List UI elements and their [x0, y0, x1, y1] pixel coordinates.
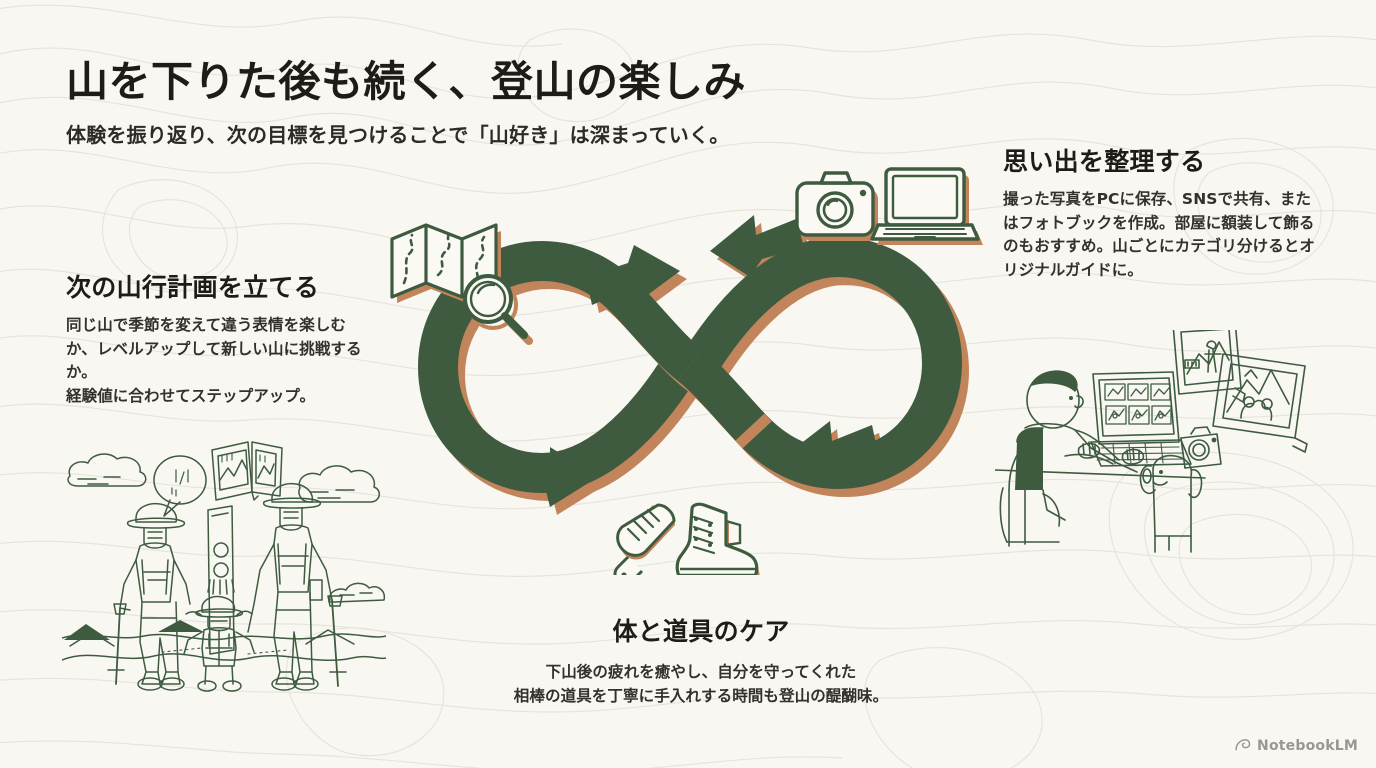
page-title: 山を下りた後も続く、登山の楽しみ: [66, 58, 926, 105]
family-hiking-illustration: [62, 432, 386, 694]
slide-root: 山を下りた後も続く、登山の楽しみ 体験を振り返り、次の目標を見つけることで「山好…: [0, 0, 1376, 768]
photo-organizing-illustration: [995, 330, 1335, 560]
block-bottom-heading: 体と道具のケア: [460, 612, 942, 648]
notebooklm-spiral-icon: [1234, 737, 1251, 754]
arrow-upper-right: [710, 215, 804, 277]
page-subtitle: 体験を振り返り、次の目標を見つけることで「山好き」は深まっていく。: [66, 119, 926, 148]
block-left-body: 同じ山で季節を変えて違う表情を楽しむか、レベルアップして新しい山に挑戦するか。 …: [66, 314, 371, 408]
brush-icon: [615, 505, 675, 575]
block-organize-memories: 思い出を整理する 撮った写真をPCに保存、SNSで共有、またはフォトブックを作成…: [1003, 142, 1323, 282]
infinity-cycle-diagram: [380, 155, 1000, 575]
arrow-upper-left: [586, 245, 680, 305]
laptop-icon: [872, 169, 983, 245]
block-left-heading: 次の山行計画を立てる: [66, 268, 371, 304]
magnifier-icon: [465, 276, 529, 341]
notebooklm-label: NotebookLM: [1257, 738, 1358, 754]
block-right-body: 撮った写真をPCに保存、SNSで共有、またはフォトブックを作成。部屋に額装して飾…: [1003, 188, 1323, 282]
block-body-gear-care: 体と道具のケア 下山後の疲れを癒やし、自分を守ってくれた 相棒の道具を丁寧に手入…: [460, 612, 942, 708]
block-bottom-body: 下山後の疲れを癒やし、自分を守ってくれた 相棒の道具を丁寧に手入れする時間も登山…: [460, 660, 942, 708]
map-icon: [392, 225, 501, 303]
notebooklm-logo: NotebookLM: [1234, 737, 1358, 754]
arrow-lower-left: [504, 447, 598, 507]
arrow-lower-right: [786, 421, 878, 481]
boot-icon: [677, 504, 760, 575]
header: 山を下りた後も続く、登山の楽しみ 体験を振り返り、次の目標を見つけることで「山好…: [66, 58, 926, 148]
camera-icon: [797, 173, 878, 241]
block-right-heading: 思い出を整理する: [1003, 142, 1323, 178]
block-next-plan: 次の山行計画を立てる 同じ山で季節を変えて違う表情を楽しむか、レベルアップして新…: [66, 268, 371, 408]
